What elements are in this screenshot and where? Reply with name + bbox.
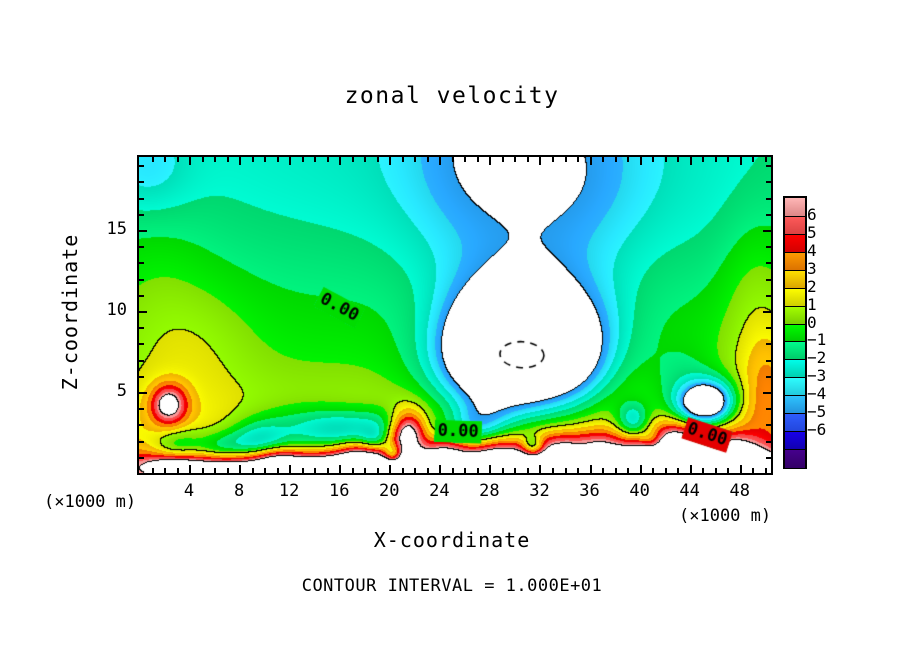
x-tick-top xyxy=(702,157,704,162)
x-tick xyxy=(752,468,754,473)
x-tick xyxy=(727,468,729,473)
y-tick-right xyxy=(766,198,771,200)
x-tick-top xyxy=(164,157,166,162)
y-tick-right xyxy=(763,230,771,232)
x-tick xyxy=(690,465,692,473)
x-tick xyxy=(665,468,667,473)
colorbar-tick-label: 3 xyxy=(807,259,847,278)
x-tick xyxy=(502,468,504,473)
colorbar-tick-label: 6 xyxy=(807,205,847,224)
colorbar-separator xyxy=(783,431,807,432)
x-tick xyxy=(477,468,479,473)
x-tick xyxy=(314,468,316,473)
y-tick-right xyxy=(766,295,771,297)
y-tick-right xyxy=(763,311,771,313)
y-tick xyxy=(139,246,144,248)
x-tick xyxy=(227,468,229,473)
colorbar-tick-label: 2 xyxy=(807,277,847,296)
y-tick-right xyxy=(766,343,771,345)
x-tick-top xyxy=(577,157,579,162)
contour-interval-note: CONTOUR INTERVAL = 1.000E+01 xyxy=(0,576,904,596)
colorbar-tick-label: −2 xyxy=(807,348,847,367)
x-tick xyxy=(427,468,429,473)
x-tick xyxy=(377,468,379,473)
y-tick-right xyxy=(766,181,771,183)
colorbar-separator xyxy=(783,216,807,217)
x-tick-top xyxy=(352,157,354,162)
x-tick-top xyxy=(527,157,529,162)
y-tick xyxy=(139,441,144,443)
x-tick-top xyxy=(277,157,279,162)
colorbar-separator xyxy=(783,252,807,253)
x-tick-top xyxy=(339,157,341,165)
x-tick xyxy=(289,465,291,473)
y-tick-right xyxy=(766,408,771,410)
x-tick-top xyxy=(314,157,316,162)
colorbar-separator xyxy=(783,359,807,360)
x-tick-top xyxy=(377,157,379,162)
colorbar-tick-label: −4 xyxy=(807,384,847,403)
x-tick-top xyxy=(364,157,366,162)
x-tick xyxy=(677,468,679,473)
x-tick xyxy=(414,468,416,473)
x-tick-top xyxy=(590,157,592,165)
x-tick-top xyxy=(640,157,642,165)
y-axis-title: Z-coordinate xyxy=(58,202,82,422)
x-tick-top xyxy=(402,157,404,162)
x-tick xyxy=(202,468,204,473)
x-tick xyxy=(402,468,404,473)
x-tick-top xyxy=(327,157,329,162)
x-tick xyxy=(327,468,329,473)
colorbar-separator xyxy=(783,449,807,450)
x-tick xyxy=(214,468,216,473)
x-tick-top xyxy=(502,157,504,162)
x-axis-unit-label: (×1000 m) xyxy=(679,506,771,526)
x-tick xyxy=(740,465,742,473)
x-tick-top xyxy=(177,157,179,162)
y-tick-right xyxy=(766,246,771,248)
x-tick-top xyxy=(690,157,692,165)
x-tick-top xyxy=(202,157,204,162)
x-tick xyxy=(615,468,617,473)
x-tick-top xyxy=(665,157,667,162)
x-tick xyxy=(152,468,154,473)
colorbar-tick-label: −3 xyxy=(807,366,847,385)
colorbar xyxy=(783,196,807,469)
y-tick-right xyxy=(766,262,771,264)
y-tick xyxy=(139,279,144,281)
x-tick xyxy=(352,468,354,473)
x-tick-top xyxy=(539,157,541,165)
x-tick xyxy=(552,468,554,473)
x-tick xyxy=(177,468,179,473)
colorbar-tick-label: −1 xyxy=(807,330,847,349)
x-tick-top xyxy=(627,157,629,162)
x-tick-top xyxy=(302,157,304,162)
x-tick-top xyxy=(152,157,154,162)
x-tick xyxy=(164,468,166,473)
x-tick xyxy=(715,468,717,473)
colorbar-separator xyxy=(783,306,807,307)
x-tick xyxy=(590,465,592,473)
y-tick xyxy=(139,327,144,329)
y-tick xyxy=(139,392,147,394)
x-tick xyxy=(189,465,191,473)
figure-page: zonal velocity 4812162024283236404448 51… xyxy=(0,0,904,654)
y-tick-label: 15 xyxy=(95,219,127,239)
colorbar-band xyxy=(785,324,805,343)
y-tick-right xyxy=(766,457,771,459)
colorbar-separator xyxy=(783,324,807,325)
y-tick-right xyxy=(766,360,771,362)
x-tick-top xyxy=(239,157,241,165)
y-tick xyxy=(139,181,144,183)
x-tick xyxy=(364,468,366,473)
y-tick-right xyxy=(763,392,771,394)
y-tick-right xyxy=(766,165,771,167)
y-tick xyxy=(139,165,144,167)
x-tick xyxy=(539,465,541,473)
x-tick-top xyxy=(752,157,754,162)
x-tick xyxy=(389,465,391,473)
colorbar-band xyxy=(785,359,805,378)
x-tick-top xyxy=(439,157,441,165)
y-tick-right xyxy=(766,327,771,329)
colorbar-band xyxy=(785,449,805,468)
x-tick xyxy=(627,468,629,473)
y-tick-right xyxy=(766,441,771,443)
y-tick-right xyxy=(766,424,771,426)
x-tick-top xyxy=(214,157,216,162)
x-tick-top xyxy=(477,157,479,162)
x-tick xyxy=(302,468,304,473)
contour-plot-area xyxy=(137,155,773,475)
x-tick-top xyxy=(740,157,742,165)
x-tick-top xyxy=(427,157,429,162)
y-tick xyxy=(139,360,144,362)
colorbar-band xyxy=(785,413,805,432)
colorbar-separator xyxy=(783,413,807,414)
x-tick xyxy=(514,468,516,473)
x-axis-title: X-coordinate xyxy=(0,528,904,552)
colorbar-band xyxy=(785,252,805,271)
x-tick-top xyxy=(389,157,391,165)
colorbar-band xyxy=(785,306,805,325)
colorbar-band xyxy=(785,198,805,217)
x-tick-top xyxy=(414,157,416,162)
x-tick xyxy=(452,468,454,473)
x-tick-top xyxy=(227,157,229,162)
x-tick xyxy=(640,465,642,473)
y-tick-right xyxy=(766,376,771,378)
x-tick-top xyxy=(552,157,554,162)
colorbar-tick-label: 1 xyxy=(807,295,847,314)
x-tick xyxy=(489,465,491,473)
colorbar-band xyxy=(785,216,805,235)
colorbar-tick-label: 4 xyxy=(807,241,847,260)
y-tick-label: 10 xyxy=(95,300,127,320)
x-tick xyxy=(439,465,441,473)
x-tick xyxy=(277,468,279,473)
y-tick-right xyxy=(766,279,771,281)
x-tick xyxy=(264,468,266,473)
y-tick xyxy=(139,343,144,345)
colorbar-band xyxy=(785,395,805,414)
x-tick-top xyxy=(189,157,191,165)
y-tick-label: 5 xyxy=(95,381,127,401)
x-tick-top xyxy=(677,157,679,162)
x-tick-top xyxy=(565,157,567,162)
colorbar-separator xyxy=(783,234,807,235)
page-title: zonal velocity xyxy=(0,83,904,109)
colorbar-band xyxy=(785,270,805,289)
x-tick xyxy=(239,465,241,473)
colorbar-band xyxy=(785,288,805,307)
y-tick-right xyxy=(766,214,771,216)
x-tick xyxy=(565,468,567,473)
contour-field-canvas xyxy=(139,157,771,473)
colorbar-separator xyxy=(783,377,807,378)
colorbar-band xyxy=(785,234,805,253)
colorbar-band xyxy=(785,377,805,396)
x-tick xyxy=(702,468,704,473)
colorbar-tick-label: −6 xyxy=(807,420,847,439)
y-axis-unit-label: (×1000 m) xyxy=(44,492,136,512)
x-tick-top xyxy=(602,157,604,162)
x-tick xyxy=(464,468,466,473)
x-tick-top xyxy=(514,157,516,162)
x-tick xyxy=(602,468,604,473)
x-tick xyxy=(339,465,341,473)
x-tick xyxy=(252,468,254,473)
colorbar-separator xyxy=(783,288,807,289)
colorbar-separator xyxy=(783,341,807,342)
x-tick-top xyxy=(652,157,654,162)
y-tick xyxy=(139,262,144,264)
y-tick xyxy=(139,376,144,378)
x-tick-top xyxy=(252,157,254,162)
x-tick xyxy=(652,468,654,473)
x-tick-top xyxy=(464,157,466,162)
y-tick xyxy=(139,230,147,232)
colorbar-band xyxy=(785,341,805,360)
x-tick-top xyxy=(264,157,266,162)
colorbar-band xyxy=(785,431,805,450)
y-tick xyxy=(139,457,144,459)
x-tick xyxy=(577,468,579,473)
colorbar-tick-label: 0 xyxy=(807,313,847,332)
y-tick xyxy=(139,408,144,410)
x-tick-label: 48 xyxy=(710,481,770,501)
x-tick-top xyxy=(765,157,767,162)
x-tick-top xyxy=(727,157,729,162)
x-tick-top xyxy=(452,157,454,162)
colorbar-separator xyxy=(783,270,807,271)
x-tick xyxy=(527,468,529,473)
x-tick xyxy=(765,468,767,473)
x-tick-top xyxy=(715,157,717,162)
x-tick-top xyxy=(615,157,617,162)
y-tick xyxy=(139,295,144,297)
y-tick xyxy=(139,424,144,426)
y-tick xyxy=(139,311,147,313)
x-tick-top xyxy=(489,157,491,165)
y-tick xyxy=(139,198,144,200)
x-tick-top xyxy=(289,157,291,165)
colorbar-tick-label: −5 xyxy=(807,402,847,421)
colorbar-separator xyxy=(783,395,807,396)
y-tick xyxy=(139,214,144,216)
colorbar-tick-label: 5 xyxy=(807,223,847,242)
